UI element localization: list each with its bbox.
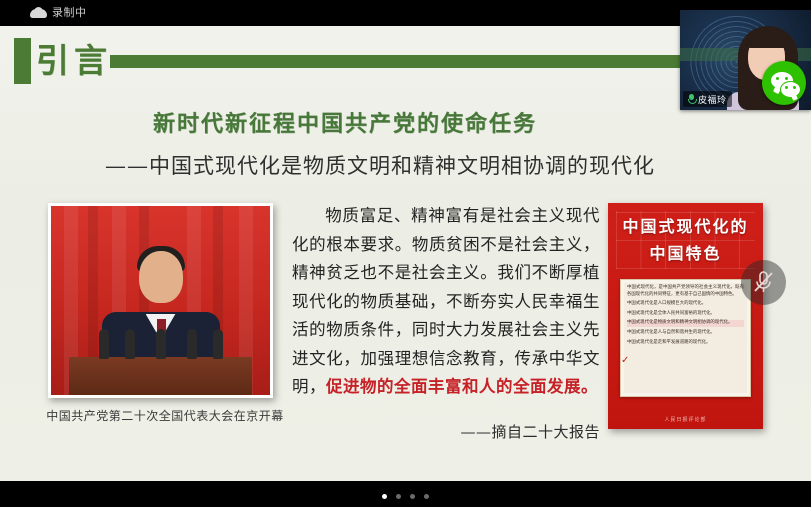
slide-title: 新时代新征程中国共产党的使命任务 (0, 106, 690, 138)
page-dot-1[interactable] (382, 494, 387, 499)
recording-label: 录制中 (52, 4, 87, 20)
body-highlight: 促进物的全面丰富和人的全面发展。 (326, 377, 598, 396)
recording-indicator: 录制中 (30, 4, 87, 20)
wechat-logo-icon (762, 61, 806, 105)
poster-line-active: 中国式现代化是物质文明和精神文明相协调的现代化。 (627, 320, 744, 327)
microphone-icon (125, 329, 135, 359)
photo-caption: 中国共产党第二十次全国代表大会在京开幕 (40, 407, 290, 424)
poster-line: 中国式现代化是全体人民共同富裕的现代化。 (627, 311, 744, 318)
page-dot-4[interactable] (424, 494, 429, 499)
slide-subtitle: ——中国式现代化是物质文明和精神文明相协调的现代化 (0, 150, 760, 180)
microphone-icon (156, 329, 166, 359)
poster-line: 中国式现代化是走和平发展道路的现代化。 (627, 340, 744, 347)
pip-person-fringe (746, 32, 790, 48)
poster-line: 中国式现代化是人与自然和谐共生的现代化。 (627, 330, 744, 337)
webcam-pip[interactable]: 皮福玲 (680, 10, 811, 110)
section-rule-bar (110, 55, 687, 68)
section-title: 引言 (36, 39, 112, 83)
photo-image (51, 206, 270, 395)
slide-section-header: 引言 (0, 38, 700, 84)
poster-title: 中国式现代化的中国特色 (616, 213, 755, 267)
poster-text-card: 中国式现代化，是中国共产党领导的社会主义现代化，既有各国现代化的共同特征，更有基… (620, 279, 751, 397)
microphone-icon (213, 329, 223, 359)
participant-name-badge: 皮福玲 (683, 91, 732, 107)
participant-name: 皮福玲 (698, 93, 727, 106)
mute-button[interactable] (741, 260, 786, 305)
speaker-head (139, 251, 183, 303)
poster-footer: 人民日报评论部 (608, 416, 763, 423)
cloud-icon (30, 7, 47, 18)
congress-photo (48, 203, 273, 398)
poster-line: 中国式现代化，是中国共产党领导的社会主义现代化，既有各国现代化的共同特征，更有基… (627, 285, 744, 298)
body-paragraph: 物质富足、精神富有是社会主义现代化的根本要求。物质贫困不是社会主义，精神贫乏也不… (292, 206, 600, 396)
page-dot-2[interactable] (396, 494, 401, 499)
microphone-icon (187, 329, 197, 359)
modernization-poster: 中国式现代化的中国特色 中国式现代化，是中国共产党领导的社会主义现代化，既有各国… (608, 203, 763, 429)
microphone-muted-icon (752, 270, 775, 295)
check-mark-icon: ✓ (621, 355, 631, 366)
page-dot-3[interactable] (410, 494, 415, 499)
poster-line: 中国式现代化是人口规模巨大的现代化。 (627, 301, 744, 308)
microphone-icon (99, 329, 109, 359)
quote-source: ——摘自二十大报告 (292, 421, 600, 442)
podium (69, 357, 253, 395)
page-indicator-dots[interactable] (0, 494, 811, 499)
section-accent-block (14, 38, 31, 84)
microphone-icon (688, 94, 695, 104)
slide-body-text: 物质富足、精神富有是社会主义现代化的根本要求。物质贫困不是社会主义，精神贫乏也不… (292, 202, 600, 402)
